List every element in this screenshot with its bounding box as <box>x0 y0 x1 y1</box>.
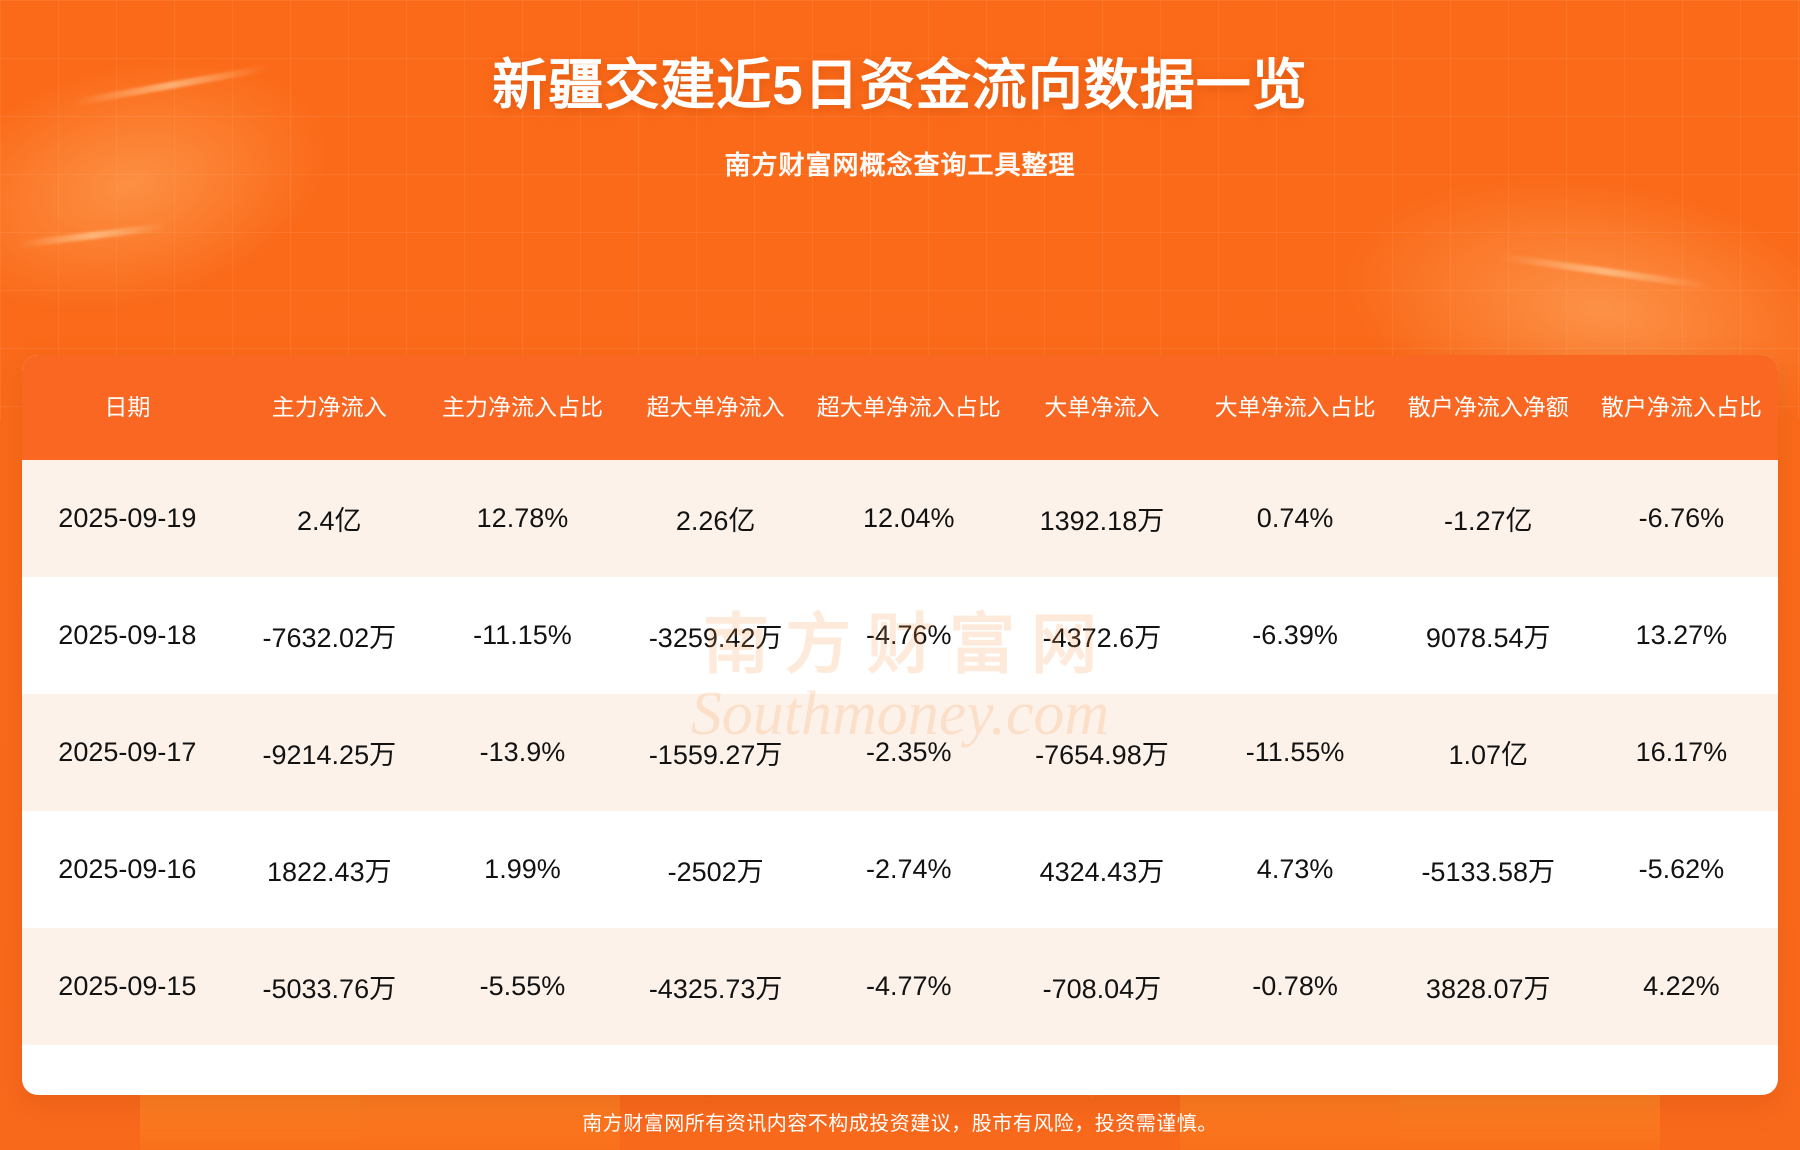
cell-date: 2025-09-16 <box>22 811 233 928</box>
cell-retail-pct: 4.22% <box>1585 928 1778 1045</box>
table-body: 2025-09-19 2.4亿 12.78% 2.26亿 12.04% 1392… <box>22 460 1778 1045</box>
col-header-xl-net[interactable]: 超大单净流入 <box>619 355 812 460</box>
col-header-main-pct[interactable]: 主力净流入占比 <box>426 355 619 460</box>
cell-main-net: 2.4亿 <box>233 460 426 577</box>
cell-retail-pct: 13.27% <box>1585 577 1778 694</box>
cell-xl-net: -3259.42万 <box>619 577 812 694</box>
table-header-row: 日期 主力净流入 主力净流入占比 超大单净流入 超大单净流入占比 大单净流入 大… <box>22 355 1778 460</box>
cell-xl-net: 2.26亿 <box>619 460 812 577</box>
cell-lg-pct: -11.55% <box>1199 694 1392 811</box>
cell-lg-net: 4324.43万 <box>1005 811 1198 928</box>
cell-date: 2025-09-17 <box>22 694 233 811</box>
cell-xl-pct: -4.76% <box>812 577 1005 694</box>
cell-main-pct: -5.55% <box>426 928 619 1045</box>
col-header-xl-pct[interactable]: 超大单净流入占比 <box>812 355 1005 460</box>
cell-date: 2025-09-19 <box>22 460 233 577</box>
table-row[interactable]: 2025-09-15 -5033.76万 -5.55% -4325.73万 -4… <box>22 928 1778 1045</box>
cell-retail-pct: -6.76% <box>1585 460 1778 577</box>
cell-lg-pct: 0.74% <box>1199 460 1392 577</box>
cell-main-net: -7632.02万 <box>233 577 426 694</box>
col-header-retail-pct[interactable]: 散户净流入占比 <box>1585 355 1778 460</box>
cell-xl-net: -1559.27万 <box>619 694 812 811</box>
cell-retail-net: 3828.07万 <box>1392 928 1585 1045</box>
cell-retail-pct: 16.17% <box>1585 694 1778 811</box>
page-root: 新疆交建近5日资金流向数据一览 南方财富网概念查询工具整理 南方财富网 Sout… <box>0 0 1800 1150</box>
cell-xl-pct: -2.74% <box>812 811 1005 928</box>
col-header-lg-pct[interactable]: 大单净流入占比 <box>1199 355 1392 460</box>
cell-xl-net: -4325.73万 <box>619 928 812 1045</box>
cell-main-pct: 12.78% <box>426 460 619 577</box>
col-header-lg-net[interactable]: 大单净流入 <box>1005 355 1198 460</box>
cell-lg-pct: 4.73% <box>1199 811 1392 928</box>
page-title: 新疆交建近5日资金流向数据一览 <box>0 40 1800 120</box>
cell-retail-net: -5133.58万 <box>1392 811 1585 928</box>
cell-retail-net: 9078.54万 <box>1392 577 1585 694</box>
col-header-main-net[interactable]: 主力净流入 <box>233 355 426 460</box>
cell-main-net: -5033.76万 <box>233 928 426 1045</box>
cell-main-pct: -11.15% <box>426 577 619 694</box>
cell-retail-pct: -5.62% <box>1585 811 1778 928</box>
disclaimer-text: 南方财富网所有资讯内容不构成投资建议，股市有风险，投资需谨慎。 <box>0 1107 1800 1136</box>
cell-main-pct: -13.9% <box>426 694 619 811</box>
table-row[interactable]: 2025-09-16 1822.43万 1.99% -2502万 -2.74% … <box>22 811 1778 928</box>
table-row[interactable]: 2025-09-19 2.4亿 12.78% 2.26亿 12.04% 1392… <box>22 460 1778 577</box>
cell-lg-net: -7654.98万 <box>1005 694 1198 811</box>
cell-date: 2025-09-18 <box>22 577 233 694</box>
cell-lg-net: -708.04万 <box>1005 928 1198 1045</box>
page-subtitle: 南方财富网概念查询工具整理 <box>0 145 1800 182</box>
col-header-date[interactable]: 日期 <box>22 355 233 460</box>
cell-retail-net: -1.27亿 <box>1392 460 1585 577</box>
cell-date: 2025-09-15 <box>22 928 233 1045</box>
cell-lg-net: -4372.6万 <box>1005 577 1198 694</box>
cell-xl-pct: -4.77% <box>812 928 1005 1045</box>
data-card: 南方财富网 Southmoney.com 日期 主力净流入 主力净流入占比 超大… <box>22 355 1778 1095</box>
cell-xl-pct: 12.04% <box>812 460 1005 577</box>
cell-main-pct: 1.99% <box>426 811 619 928</box>
table-row[interactable]: 2025-09-17 -9214.25万 -13.9% -1559.27万 -2… <box>22 694 1778 811</box>
col-header-retail-net[interactable]: 散户净流入净额 <box>1392 355 1585 460</box>
cell-xl-pct: -2.35% <box>812 694 1005 811</box>
cell-lg-pct: -6.39% <box>1199 577 1392 694</box>
cell-xl-net: -2502万 <box>619 811 812 928</box>
cell-main-net: -9214.25万 <box>233 694 426 811</box>
cell-main-net: 1822.43万 <box>233 811 426 928</box>
fund-flow-table: 日期 主力净流入 主力净流入占比 超大单净流入 超大单净流入占比 大单净流入 大… <box>22 355 1778 1045</box>
cell-lg-net: 1392.18万 <box>1005 460 1198 577</box>
cell-lg-pct: -0.78% <box>1199 928 1392 1045</box>
cell-retail-net: 1.07亿 <box>1392 694 1585 811</box>
table-row[interactable]: 2025-09-18 -7632.02万 -11.15% -3259.42万 -… <box>22 577 1778 694</box>
